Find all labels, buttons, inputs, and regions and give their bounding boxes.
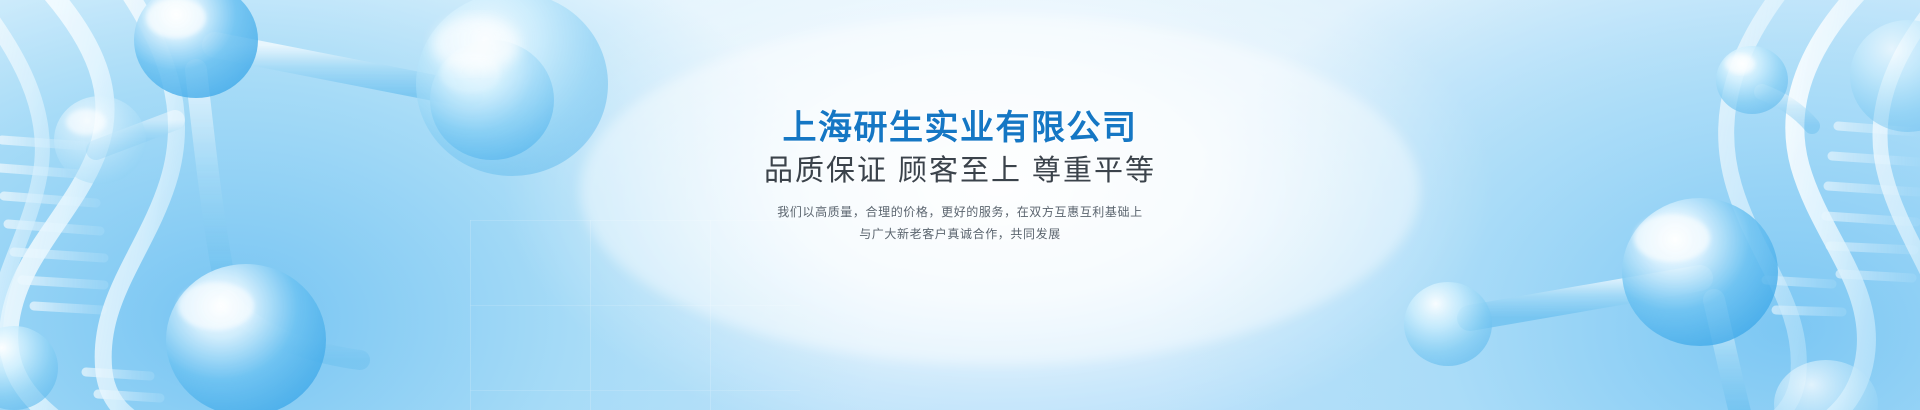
description-line-1: 我们以高质量，合理的价格，更好的服务，在双方互惠互利基础上 [0, 201, 1920, 223]
company-banner: 上海研生实业有限公司 品质保证 顾客至上 尊重平等 我们以高质量，合理的价格，更… [0, 0, 1920, 410]
molecule-sphere-bottom-left [166, 264, 326, 410]
molecule-sphere-bottom-center-right [1774, 360, 1878, 410]
page-title: 上海研生实业有限公司 [0, 108, 1920, 148]
molecule-sphere-right-edge-low [1404, 282, 1492, 366]
molecule-sphere-small-right [1716, 46, 1788, 114]
molecule-sphere-top-left [134, 0, 258, 98]
grid-lines-lower-left [470, 220, 800, 410]
molecule-sphere-left-edge-low [0, 326, 58, 410]
banner-slogan: 品质保证 顾客至上 尊重平等 [0, 152, 1920, 191]
banner-description: 我们以高质量，合理的价格，更好的服务，在双方互惠互利基础上 与广大新老客户真诚合… [0, 201, 1920, 245]
banner-text-block: 上海研生实业有限公司 品质保证 顾客至上 尊重平等 我们以高质量，合理的价格，更… [0, 108, 1920, 246]
description-line-2: 与广大新老客户真诚合作，共同发展 [0, 223, 1920, 245]
